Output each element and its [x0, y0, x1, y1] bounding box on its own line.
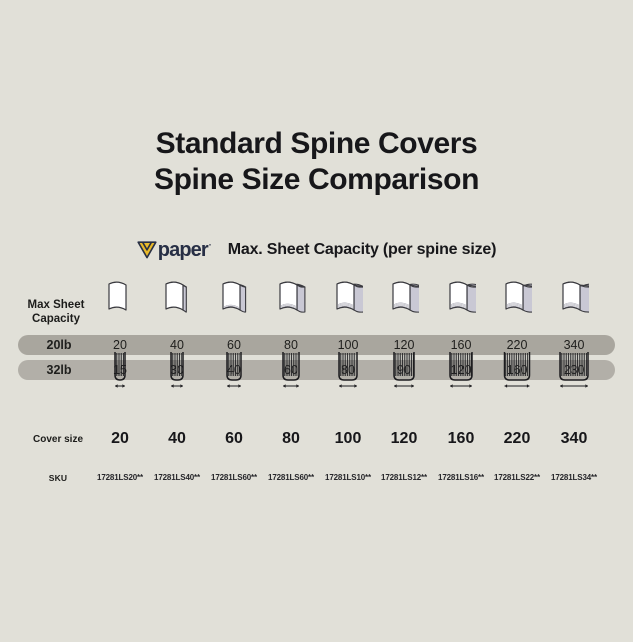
spine-profile-icon [388, 350, 420, 390]
sheet-stack-icon [333, 276, 363, 320]
sheet-stack-icon [446, 276, 476, 320]
spine-profile-icon [277, 350, 305, 390]
max-sheet-capacity-line1: Max Sheet [8, 298, 104, 312]
spine-profile-icon [554, 350, 594, 390]
sku-label: SKU [14, 473, 102, 483]
sheet-stack-icon [105, 276, 135, 320]
sheet-stack-icon [559, 276, 589, 320]
sheet-stack-icon [276, 276, 306, 320]
spine-profile-icon [499, 350, 536, 390]
logo-wordmark: paper [158, 240, 208, 260]
cover-size-value: 220 [504, 430, 531, 448]
sku-value: 17281LS12** [381, 473, 427, 482]
sheet-stack-icon [219, 276, 249, 320]
page-title: Standard Spine Covers Spine Size Compari… [0, 126, 633, 198]
sku-value: 17281LS20** [97, 473, 143, 482]
sku-value: 17281LS34** [551, 473, 597, 482]
cover-size-value: 340 [561, 430, 588, 448]
cover-size-value: 120 [391, 430, 418, 448]
sku-value: 17281LS10** [325, 473, 371, 482]
title-line-1: Standard Spine Covers [0, 126, 633, 162]
sheet-stack-icon [502, 276, 532, 320]
cover-size-value: 160 [448, 430, 475, 448]
row-label-20lb: 20lb [46, 335, 71, 355]
cover-size-value: 60 [225, 430, 243, 448]
cover-size-label: Cover size [14, 434, 102, 445]
spine-profile-icon [109, 350, 131, 390]
sku-value: 17281LS22** [494, 473, 540, 482]
sku-value: 17281LS60** [268, 473, 314, 482]
max-sheet-capacity-line2: Capacity [8, 312, 104, 326]
logo-trademark-icon: · [209, 240, 212, 250]
sheet-stack-icon [162, 276, 192, 320]
row-label-32lb: 32lb [46, 360, 71, 380]
cover-size-value: 40 [168, 430, 186, 448]
spine-profile-icon [165, 350, 189, 390]
sheet-stack-icon [389, 276, 419, 320]
sku-value: 17281LS16** [438, 473, 484, 482]
spine-profile-icon [444, 350, 478, 390]
sku-value: 17281LS60** [211, 473, 257, 482]
logo-v-icon [137, 240, 157, 260]
subtitle: Max. Sheet Capacity (per spine size) [228, 241, 496, 259]
title-line-2: Spine Size Comparison [0, 162, 633, 198]
sku-value: 17281LS40** [154, 473, 200, 482]
spine-profile-icon [333, 350, 363, 390]
cover-size-value: 100 [335, 430, 362, 448]
infographic-page: Standard Spine Covers Spine Size Compari… [0, 0, 633, 642]
max-sheet-capacity-label: Max Sheet Capacity [8, 298, 104, 326]
cover-size-value: 80 [282, 430, 300, 448]
cover-size-value: 20 [111, 430, 129, 448]
vpaper-logo: paper · [137, 240, 212, 260]
spine-profile-icon [221, 350, 247, 390]
subheader: paper · Max. Sheet Capacity (per spine s… [0, 240, 633, 260]
